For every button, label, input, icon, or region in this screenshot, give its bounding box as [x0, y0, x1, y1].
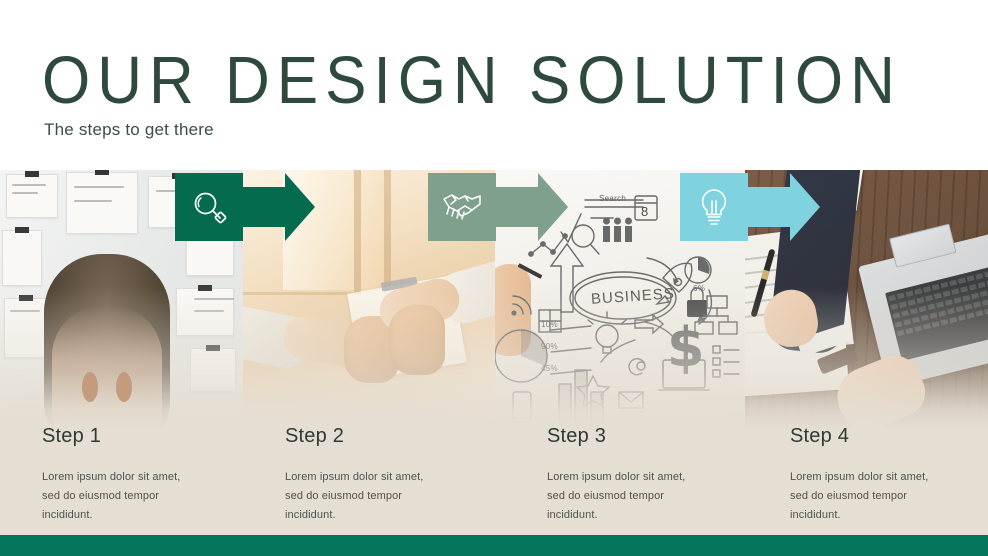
magnifier-icon: [175, 173, 243, 241]
slide: OUR DESIGN SOLUTION The steps to get the…: [0, 0, 988, 556]
slide-header: OUR DESIGN SOLUTION The steps to get the…: [0, 0, 988, 170]
desk-edge: [243, 292, 495, 295]
shirt-cuff: [797, 323, 853, 357]
pinned-note: [186, 236, 234, 276]
pinned-note: [176, 288, 234, 336]
laptop: [858, 233, 988, 388]
contract-document: [745, 225, 854, 359]
keyboard: [885, 266, 988, 361]
doodle-calendar-number: 8: [641, 204, 649, 219]
arrow-tail: [243, 187, 285, 227]
wristwatch: [816, 345, 858, 374]
step-title: Step 1: [42, 425, 252, 448]
doodle-percent: 45%: [541, 364, 558, 373]
window-mullion: [354, 170, 361, 295]
svg-text:$: $: [667, 316, 705, 379]
arrow-tail: [496, 187, 538, 227]
doodle-search-label: Search: [599, 194, 626, 203]
sketch-line: [12, 184, 46, 186]
handshake-icon: [428, 173, 496, 241]
step-body: Lorem ipsum dolor sit amet, sed do eiusm…: [790, 468, 988, 525]
document-text-line: [745, 307, 819, 319]
process-arrow-3[interactable]: [680, 173, 820, 241]
key-row: [888, 271, 988, 302]
document-text-line: [745, 265, 806, 276]
pinned-note: [190, 348, 236, 392]
sketch-line: [10, 310, 40, 312]
step-body: Lorem ipsum dolor sit amet, sed do eiusm…: [285, 468, 495, 525]
key-row: [890, 279, 988, 310]
footer-bar: [0, 535, 988, 556]
clipboard-clip: [381, 277, 418, 292]
step-title: Step 3: [547, 425, 757, 448]
page-subtitle: The steps to get there: [44, 120, 214, 140]
hand-thumb: [495, 264, 531, 356]
clipboard: [347, 276, 467, 381]
pinned-note: [66, 172, 138, 234]
document-text-line: [745, 295, 800, 305]
document-text-line: [745, 250, 817, 263]
step-item-2: Step 2 Lorem ipsum dolor sit amet, sed d…: [285, 425, 495, 525]
chart-bar: [401, 334, 412, 361]
steps-text-band: Step 1 Lorem ipsum dolor sit amet, sed d…: [0, 425, 988, 535]
hand: [760, 285, 823, 351]
step-title: Step 2: [285, 425, 495, 448]
step-body: Lorem ipsum dolor sit amet, sed do eiusm…: [547, 468, 757, 525]
ear: [82, 372, 98, 402]
shirt-sleeve: [243, 301, 313, 371]
step-item-1: Step 1 Lorem ipsum dolor sit amet, sed d…: [42, 425, 252, 525]
pinned-note: [6, 174, 58, 218]
fist: [389, 305, 444, 375]
pinned-note: [2, 230, 42, 286]
chart-bar: [371, 330, 383, 366]
key-row: [893, 288, 988, 319]
key-row: [897, 306, 988, 337]
handshake-hand: [829, 348, 933, 430]
sketch-line: [12, 192, 38, 194]
pen-nib: [518, 263, 543, 279]
step-item-3: Step 3 Lorem ipsum dolor sit amet, sed d…: [547, 425, 757, 525]
document-text-line: [745, 278, 823, 291]
chart-bar: [428, 317, 441, 356]
window-mullion: [384, 170, 391, 295]
step-body: Lorem ipsum dolor sit amet, sed do eiusm…: [42, 468, 252, 525]
ear: [116, 372, 132, 402]
chart-bar: [383, 314, 398, 364]
process-arrow-2[interactable]: [428, 173, 568, 241]
trackpad: [889, 224, 956, 268]
arrow-tail: [748, 187, 790, 227]
key-row: [895, 297, 988, 328]
doodle-business-label: BUSINESS: [591, 285, 676, 308]
forearm: [375, 274, 464, 336]
sketch-line: [194, 310, 224, 312]
person-head-back-view: [44, 254, 170, 430]
step-title: Step 4: [790, 425, 988, 448]
fist: [344, 316, 399, 384]
arrow-tip: [538, 173, 568, 241]
lightbulb-icon: [680, 173, 748, 241]
doodle-percent: 10%: [541, 320, 558, 329]
pinned-note: [4, 298, 48, 358]
doodle-percent: 6%: [693, 284, 705, 293]
step-item-4: Step 4 Lorem ipsum dolor sit amet, sed d…: [790, 425, 988, 525]
shirt-sleeve: [434, 251, 495, 327]
sketch-line: [74, 186, 124, 188]
sketch-line: [194, 298, 234, 300]
arrow-tip: [790, 173, 820, 241]
process-arrow-1[interactable]: [175, 173, 315, 241]
doodle-percent: 90%: [541, 342, 558, 351]
sketch-line: [74, 200, 112, 202]
chart-bar: [411, 303, 426, 358]
page-title: OUR DESIGN SOLUTION: [42, 48, 902, 115]
contract-document: [745, 327, 849, 397]
arrow-tip: [285, 173, 315, 241]
pen: [750, 249, 775, 318]
forearm: [280, 313, 372, 370]
